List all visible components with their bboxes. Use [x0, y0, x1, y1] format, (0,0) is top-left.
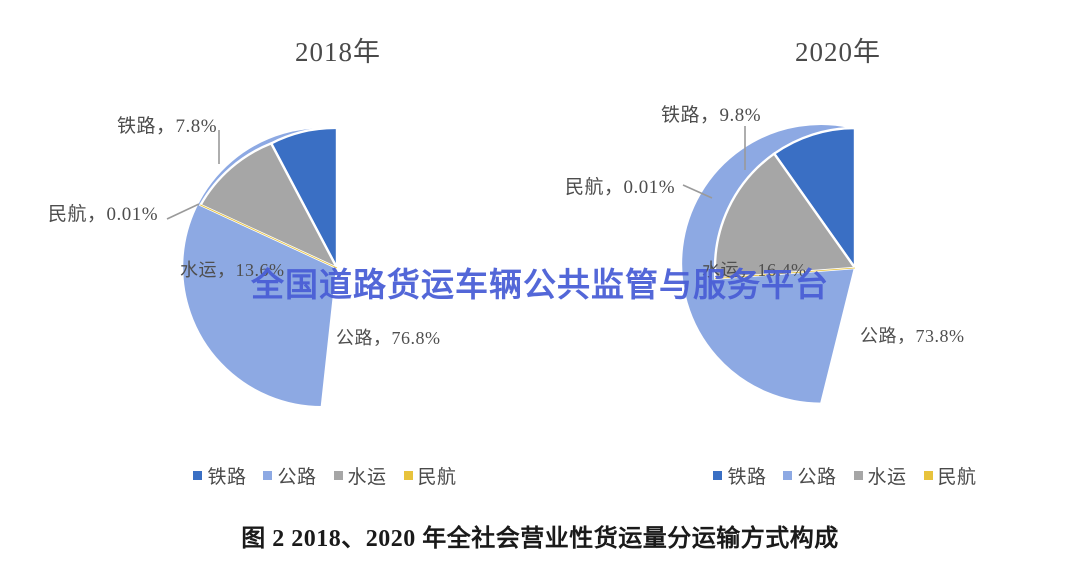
pie-svg-2020 [540, 0, 1080, 510]
legend-swatch-water-icon [854, 471, 863, 480]
chart-panel-2020: 2020年 铁路，9.8% 民航，0.01% 水运，16.4% 公路，73.8% [540, 0, 1080, 510]
legend-label-rail: 铁路 [727, 462, 766, 489]
pie-chart-2020 [540, 0, 1080, 510]
legend-item-road-2020[interactable]: 公路 [783, 462, 836, 489]
pie-svg-2018 [0, 0, 540, 510]
legend-label-water: 水运 [868, 462, 907, 489]
legend-swatch-road-icon [263, 471, 272, 480]
inner-label-road-2020: 公路，73.8% [860, 322, 965, 348]
legend-swatch-air-icon [404, 471, 413, 480]
legend-swatch-rail-icon [713, 471, 722, 480]
legend-label-air: 民航 [938, 462, 977, 489]
legend-swatch-air-icon [924, 471, 933, 480]
callout-label-air-2018: 民航，0.01% [48, 199, 158, 226]
legend-2018: 铁路 公路 水运 民航 [0, 462, 595, 489]
figure-root: 2018年 铁路，7.8% 民航，0.01% 水运，13.6% 公路，76.8% [0, 0, 1080, 581]
chart-panel-2018: 2018年 铁路，7.8% 民航，0.01% 水运，13.6% 公路，76.8% [0, 0, 540, 510]
legend-item-water-2018[interactable]: 水运 [334, 462, 387, 489]
callout-label-air-2020: 民航，0.01% [565, 172, 675, 199]
legend-item-rail-2020[interactable]: 铁路 [713, 462, 766, 489]
callout-label-rail-2018: 铁路，7.8% [117, 111, 217, 138]
legend-swatch-water-icon [334, 471, 343, 480]
inner-label-water-2018: 水运，13.6% [180, 256, 285, 282]
legend-label-road: 公路 [277, 462, 316, 489]
legend-item-air-2020[interactable]: 民航 [924, 462, 977, 489]
inner-label-water-2020: 水运，16.4% [702, 256, 807, 282]
legend-2020: 铁路 公路 水运 民航 [540, 462, 1080, 489]
legend-label-rail: 铁路 [207, 462, 246, 489]
callout-label-rail-2020: 铁路，9.8% [661, 100, 761, 127]
inner-label-road-2018: 公路，76.8% [336, 324, 441, 350]
legend-item-air-2018[interactable]: 民航 [404, 462, 457, 489]
legend-item-rail-2018[interactable]: 铁路 [193, 462, 246, 489]
legend-swatch-rail-icon [193, 471, 202, 480]
legend-label-road: 公路 [797, 462, 836, 489]
legend-label-air: 民航 [418, 462, 457, 489]
legend-item-water-2020[interactable]: 水运 [854, 462, 907, 489]
legend-item-road-2018[interactable]: 公路 [263, 462, 316, 489]
legend-label-water: 水运 [348, 462, 387, 489]
pie-chart-2018 [0, 0, 540, 510]
legend-swatch-road-icon [783, 471, 792, 480]
figure-caption: 图 2 2018、2020 年全社会营业性货运量分运输方式构成 [0, 518, 1080, 553]
